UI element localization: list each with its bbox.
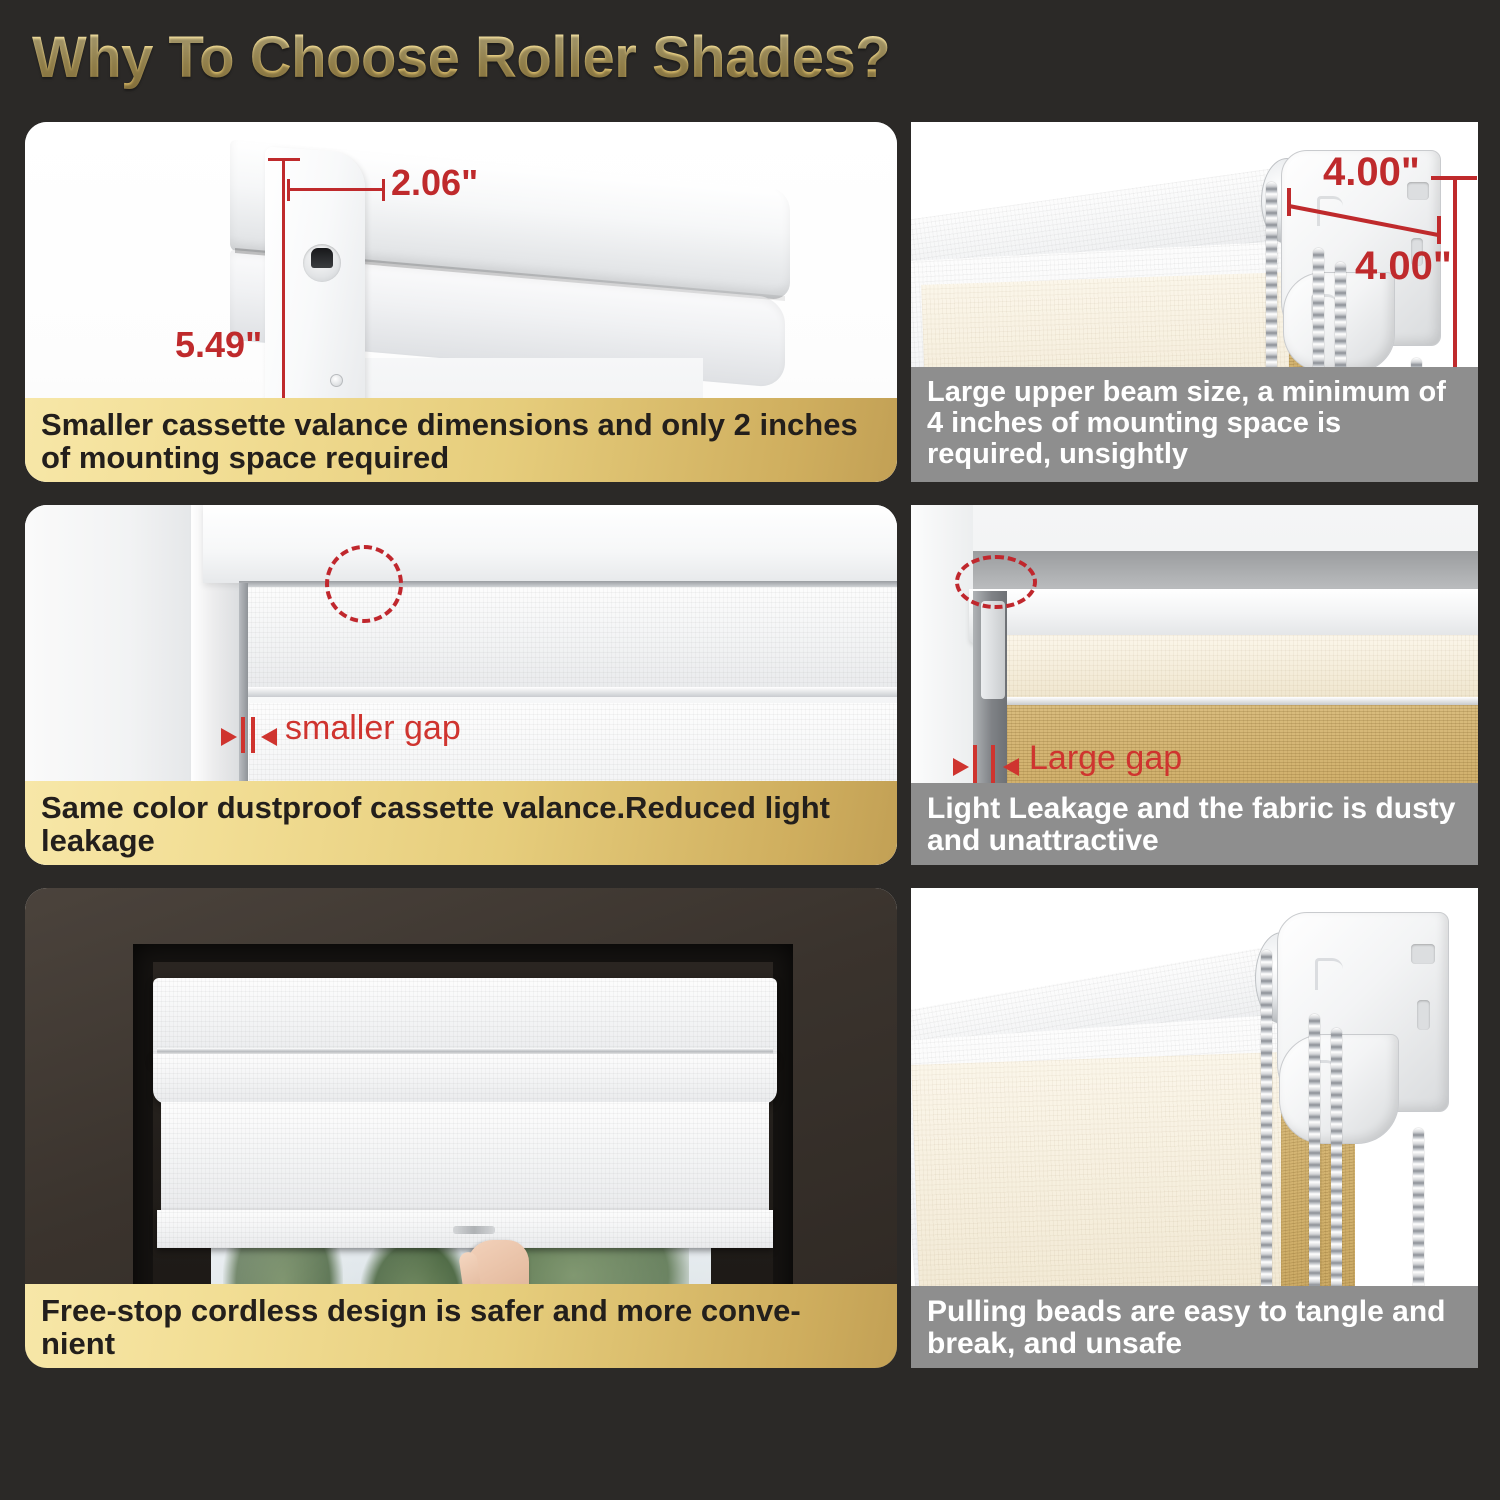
infographic-root: Why To Choose Roller Shades? (0, 0, 1500, 1500)
cream-band (973, 635, 1478, 701)
width-dimension-label: 2.06" (391, 162, 478, 204)
bottom-rail-grip-icon (453, 1226, 495, 1234)
room-shade-fabric (161, 1102, 769, 1214)
beam-height-dimension-line (1453, 176, 1457, 372)
panel-large-upper-beam: 4.00" 4.00" Large upper beam size, a min… (911, 122, 1478, 482)
end-cap-slot-dark (311, 248, 333, 268)
panel-cassette-dimensions: 5.49" 2.06" Smaller cassette valance dim… (25, 122, 897, 482)
caption-pulling-beads: Pulling beads are easy to tangle and bre… (911, 1286, 1478, 1368)
gap-arrow-right (261, 728, 277, 746)
caption-large-upper-beam: Large upper beam size, a minimum of 4 in… (911, 367, 1478, 482)
smaller-gap-label: smaller gap (285, 709, 461, 748)
large-gap-tick-a (973, 745, 977, 785)
caption-smaller-gap: Same color dustproof cassette valance.Re… (25, 781, 897, 865)
caption-large-gap: Light Leakage and the fabric is dusty an… (911, 783, 1478, 865)
valance-bottom-shadow (239, 687, 897, 697)
end-cap-screw-icon (330, 374, 343, 387)
height-dimension-label: 5.49" (175, 324, 262, 366)
beam-height-tick-top (1431, 176, 1477, 180)
beam-width-tick-left (1287, 188, 1291, 216)
beads-bracket-slot-mid (1417, 1000, 1430, 1030)
height-dimension-tick-top (268, 158, 300, 161)
width-dimension-tick-right (382, 179, 385, 201)
large-gap-arrow-right (1003, 758, 1019, 776)
caption-cassette-dimensions: Smaller cassette valance dimensions and … (25, 398, 897, 482)
caption-cordless-line1: Free-stop cordless design is safer and m… (41, 1294, 881, 1327)
gap-tick-b (251, 717, 255, 753)
gap-arrow-left (221, 728, 237, 746)
beads-bracket-slot-top (1411, 944, 1435, 964)
panel-large-gap: Large gap Light Leakage and the fabric i… (911, 505, 1478, 865)
gap-zoom-circle (325, 545, 403, 623)
panel-cordless-design: Free-stop cordless design is safer and m… (25, 888, 897, 1368)
width-dimension-tick-left (287, 179, 290, 201)
width-dimension-line (287, 188, 385, 191)
gap-zoom-ellipse (955, 555, 1037, 609)
beads-bracket-emboss-upper-icon (1315, 958, 1343, 990)
panel-smaller-gap: smaller gap Same color dustproof cassett… (25, 505, 897, 865)
top-rail-end-pin-icon (981, 601, 1005, 699)
caption-cordless-design: Free-stop cordless design is safer and m… (25, 1284, 897, 1368)
room-valance-lower-lip (153, 1054, 777, 1104)
gap-tick-a (241, 717, 245, 753)
cream-band-edge (973, 697, 1478, 705)
height-dimension-line (282, 158, 285, 420)
window-casing-top (203, 505, 897, 583)
page-title: Why To Choose Roller Shades? (32, 24, 890, 91)
large-gap-tick-b (991, 745, 995, 785)
large-gap-label: Large gap (1029, 739, 1182, 778)
beam-width-tick-right (1437, 216, 1441, 244)
beam-height-dimension-label: 4.00" (1355, 244, 1452, 289)
beam-width-dimension-label: 4.00" (1323, 150, 1420, 195)
panel-pulling-beads: Pulling beads are easy to tangle and bre… (911, 888, 1478, 1368)
caption-cordless-line2: nient (41, 1327, 881, 1360)
recess-shadow (973, 551, 1478, 593)
large-gap-arrow-left (953, 758, 969, 776)
